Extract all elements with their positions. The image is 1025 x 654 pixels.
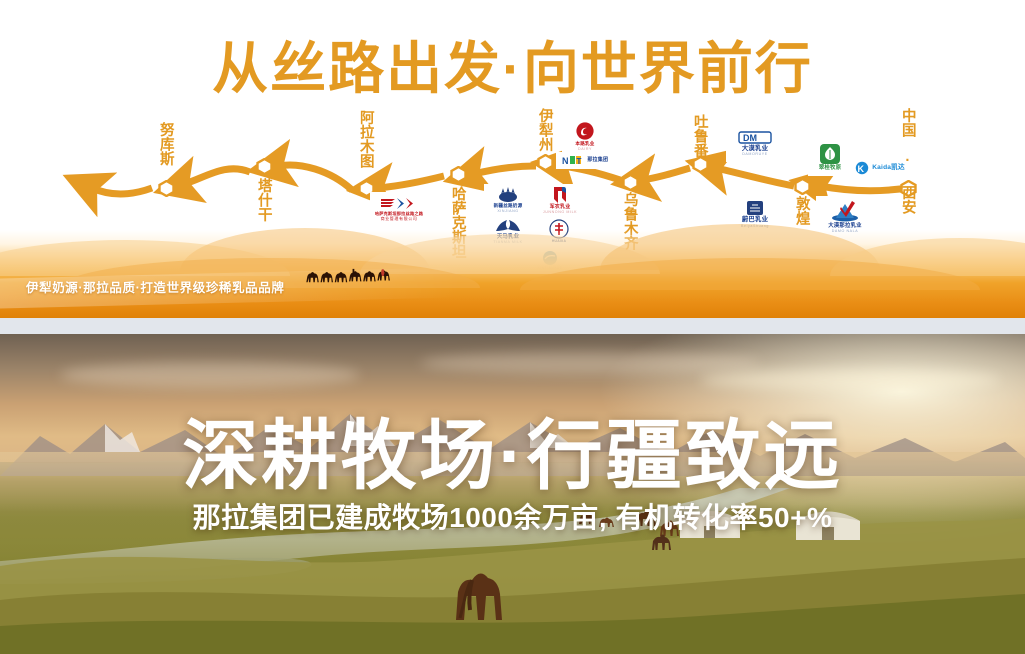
srk-icon — [379, 197, 419, 210]
city-label-tashkent: 塔什干 — [256, 178, 271, 222]
logo-srk: 哈萨克斯坦那拉丝路之路 商业管理有限公司 — [370, 192, 428, 226]
svg-text:T: T — [576, 157, 581, 166]
cloud — [700, 370, 1000, 390]
junnong-icon — [551, 186, 569, 204]
city-label-dunhuang: 敦煌 — [794, 196, 809, 225]
route-node-dunhuang — [794, 178, 811, 195]
city-label-yili: 伊犁州 — [537, 108, 552, 152]
logo-kaida-text: Kaida凯达 — [872, 165, 905, 172]
logo-xinjiang-silu: 新疆丝路奶源 XINJIANG — [484, 184, 532, 216]
kaida-icon: K — [855, 161, 871, 175]
logo-benlu-sub: DAIRY — [578, 148, 592, 152]
logo-xinjiang-silu-sub: XINJIANG — [497, 210, 518, 214]
city-label-nukus: 努库斯 — [158, 122, 173, 166]
cuigui-muyuan-icon — [819, 143, 841, 165]
city-label-almaty: 阿拉木图 — [358, 110, 373, 168]
logo-junnong: 军农乳业 JUNNONG MILK — [536, 184, 584, 216]
bottom-banner: 深耕牧场·行疆致远 那拉集团已建成牧场1000余万亩, 有机转化率50+% — [0, 334, 1025, 654]
bottom-banner-title: 深耕牧场·行疆致远 — [0, 394, 1025, 504]
route-node-nukus — [158, 180, 175, 197]
logo-cuigui-muyuan: 翠桂牧原 — [808, 138, 852, 176]
logo-nljt-text: 那拉集团 — [587, 158, 608, 163]
page-root: 从丝路出发·向世界前行 — [0, 0, 1025, 654]
top-banner-title: 从丝路出发·向世界前行 — [0, 24, 1025, 105]
svg-text:K: K — [858, 164, 865, 174]
logo-cuigui-muyuan-text: 翠桂牧原 — [819, 166, 841, 171]
banner-gap — [0, 318, 1025, 334]
beiba-icon — [746, 200, 764, 216]
svg-text:N: N — [562, 156, 569, 166]
top-banner-caption: 伊犁奶源·那拉品质·打造世界级珍稀乳品品牌 — [26, 277, 284, 296]
nljt-icon: N T — [562, 155, 586, 166]
cloud — [420, 352, 760, 374]
damo-icon: DM — [738, 131, 772, 144]
logo-beiba-text: 蔚巴乳业 — [742, 217, 768, 223]
bottom-banner-subtitle: 那拉集团已建成牧场1000余万亩, 有机转化率50+% — [0, 496, 1025, 536]
route-node-turpan — [692, 156, 709, 173]
camel-caravan-icon — [290, 268, 520, 284]
damo-nala-icon — [830, 198, 860, 222]
logo-damo: DM 大漠乳业 DAMORUYE — [726, 126, 784, 162]
route-node-kazakhstan — [450, 166, 467, 183]
camel-foreground — [446, 562, 508, 624]
route-node-urumqi — [622, 174, 639, 191]
logo-junnong-sub: JUNNONG MILK — [543, 211, 577, 215]
logo-nljt: N T 那拉集团 — [556, 152, 614, 169]
logo-srk-sub: 商业管理有限公司 — [381, 217, 418, 221]
top-banner: 从丝路出发·向世界前行 — [0, 0, 1025, 318]
route-node-yili — [537, 154, 554, 171]
benlu-icon — [575, 121, 595, 141]
desert-band: 伊犁奶源·那拉品质·打造世界级珍稀乳品品牌 — [0, 230, 1025, 318]
route-node-tashkent — [256, 158, 273, 175]
city-label-turpan: 吐鲁番 — [692, 114, 707, 158]
logo-kaida: K Kaida凯达 — [854, 158, 906, 178]
logo-damo-sub: DAMORUYE — [742, 153, 768, 157]
svg-text:DM: DM — [743, 133, 757, 143]
xinjiang-silu-icon — [497, 187, 519, 203]
cloud — [60, 362, 360, 388]
logo-benlu: 本路乳业 DAIRY — [562, 120, 608, 152]
